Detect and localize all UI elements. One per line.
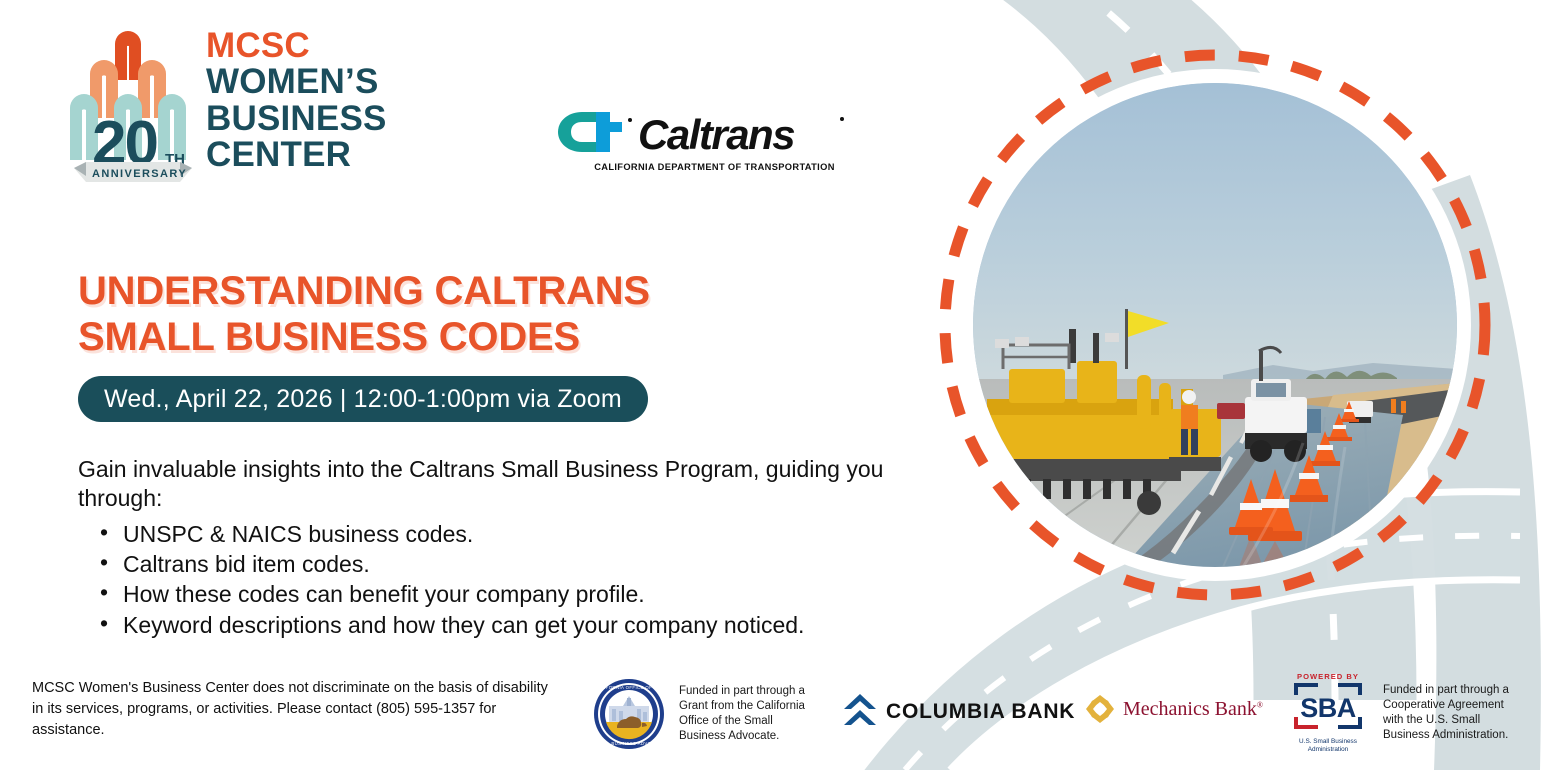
- sba-funding-text: Funded in part through a Cooperative Agr…: [1383, 683, 1525, 744]
- cal-osba-seal-icon: CALIFORNIA OFFICE OF THE SMALL BUSINESS …: [593, 678, 665, 750]
- mechanics-bank-wordmark: Mechanics Bank®: [1123, 698, 1263, 721]
- mcsc-line-1: MCSC: [206, 28, 456, 64]
- footer: MCSC Women's Business Center does not di…: [0, 670, 1550, 770]
- sponsor-mechanics-bank: Mechanics Bank®: [1085, 694, 1263, 724]
- event-description: Gain invaluable insights into the Caltra…: [78, 455, 908, 640]
- caltrans-logo: Caltrans CALIFORNIA DEPARTMENT OF TRANSP…: [552, 104, 852, 178]
- svg-text:SBA: SBA: [1300, 693, 1356, 723]
- mcsc-anniversary-mark: 20 TH ANNIVERSARY: [68, 18, 198, 188]
- mcsc-logo: 20 TH ANNIVERSARY MCSC WOMEN’S BUSINESS …: [68, 18, 388, 188]
- sponsor-sba: POWERED BY SBA U.S. Small Business Admin…: [1285, 672, 1525, 754]
- description-lede: Gain invaluable insights into the Caltra…: [78, 455, 908, 513]
- mcsc-wordmark: MCSC WOMEN’S BUSINESS CENTER: [206, 28, 456, 174]
- sba-agency-caption: U.S. Small Business Administration: [1285, 738, 1371, 754]
- list-item: Keyword descriptions and how they can ge…: [78, 610, 908, 640]
- mcsc-line-2: WOMEN’S: [206, 64, 456, 100]
- mechanics-knot-icon: [1085, 694, 1115, 724]
- sponsor-columbia-bank: COLUMBIA BANK: [843, 692, 1075, 732]
- sponsor-logo-row: CALIFORNIA OFFICE OF THE SMALL BUSINESS …: [585, 670, 1550, 766]
- list-item: UNSPC & NAICS business codes.: [78, 519, 908, 549]
- sba-logo-icon: SBA: [1288, 681, 1368, 731]
- columbia-chevron-icon: [843, 692, 877, 732]
- svg-text:SMALL BUSINESS ADVOCATE: SMALL BUSINESS ADVOCATE: [594, 741, 664, 746]
- caltrans-subtitle: CALIFORNIA DEPARTMENT OF TRANSPORTATION: [587, 162, 842, 172]
- mcsc-line-4: CENTER: [206, 137, 456, 173]
- nondiscrimination-disclaimer: MCSC Women's Business Center does not di…: [32, 678, 562, 741]
- flyer-canvas: 20 TH ANNIVERSARY MCSC WOMEN’S BUSINESS …: [0, 0, 1550, 770]
- cal-osba-funding-text: Funded in part through a Grant from the …: [679, 684, 819, 745]
- page-title: UNDERSTANDING CALTRANS SMALL BUSINESS CO…: [78, 268, 798, 361]
- caltrans-wordmark: Caltrans: [552, 104, 852, 164]
- svg-text:ANNIVERSARY: ANNIVERSARY: [92, 168, 187, 180]
- sponsor-cal-osba: CALIFORNIA OFFICE OF THE SMALL BUSINESS …: [593, 678, 819, 750]
- mcsc-line-3: BUSINESS: [206, 101, 456, 137]
- hero-photo-module: [935, 45, 1495, 605]
- hero-photo: [973, 83, 1457, 567]
- columbia-bank-wordmark: COLUMBIA BANK: [886, 700, 1075, 724]
- list-item: Caltrans bid item codes.: [78, 549, 908, 579]
- svg-text:Caltrans: Caltrans: [638, 111, 794, 158]
- event-datetime-badge: Wed., April 22, 2026 | 12:00-1:00pm via …: [78, 376, 648, 422]
- headline-line-2: SMALL BUSINESS CODES: [78, 314, 798, 360]
- sba-powered-by-label: POWERED BY: [1285, 672, 1371, 681]
- svg-text:CALIFORNIA OFFICE OF THE: CALIFORNIA OFFICE OF THE: [595, 685, 664, 690]
- topics-list: UNSPC & NAICS business codes. Caltrans b…: [78, 519, 908, 640]
- list-item: How these codes can benefit your company…: [78, 579, 908, 609]
- headline-line-1: UNDERSTANDING CALTRANS: [78, 268, 798, 314]
- roadwork-photo-illustration: [973, 83, 1457, 567]
